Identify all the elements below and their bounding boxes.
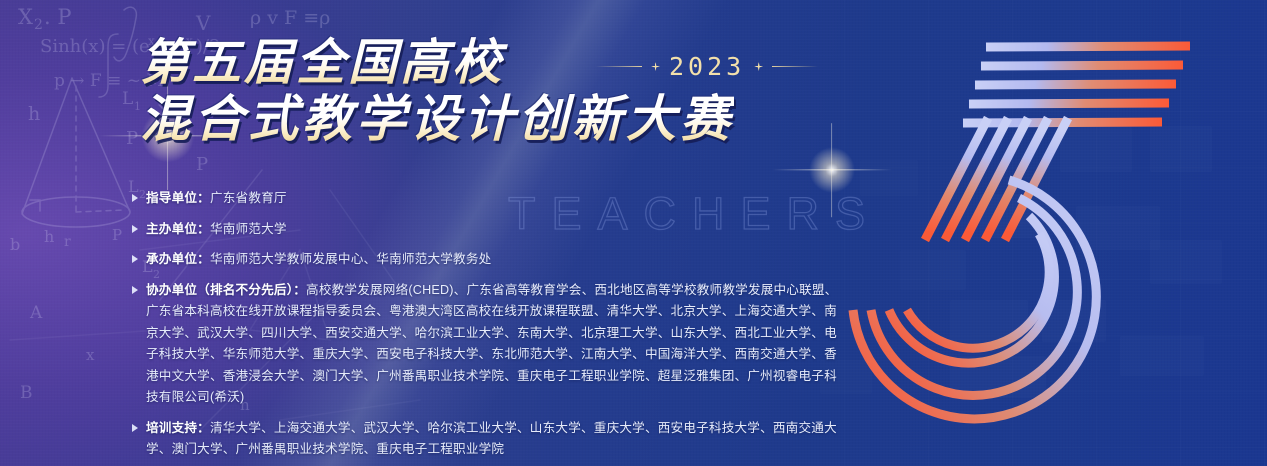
svg-text:h: h (44, 227, 54, 246)
info-row-text: 承办单位：华南师范大学教师发展中心、华南师范大学教务处 (146, 249, 491, 271)
svg-text:V: V (195, 11, 211, 35)
svg-text:B: B (20, 383, 33, 403)
svg-text:Sinh(x) = (e: Sinh(x) = (e (40, 36, 150, 57)
info-value: 广东省教育厅 (210, 191, 287, 205)
year-badge: 2023 (596, 52, 818, 81)
svg-text:ρ v F ≡ρ: ρ v F ≡ρ (250, 7, 330, 29)
info-row-text: 主办单位：华南师范大学 (146, 219, 287, 241)
info-row-co-organizers: 协办单位（排名不分先后）：高校教学发展网络(CHED)、广东省高等教育学会、西北… (132, 280, 842, 409)
info-value: 华南师范大学 (210, 222, 287, 236)
triangle-right-icon (132, 225, 138, 233)
year-label: 2023 (669, 52, 745, 81)
info-row-text: 培训支持：清华大学、上海交通大学、武汉大学、哈尔滨工业大学、山东大学、重庆大学、… (146, 418, 842, 461)
svg-text:X: X (18, 5, 33, 29)
svg-text:b: b (10, 235, 20, 254)
info-row-text: 指导单位：广东省教育厅 (146, 188, 287, 210)
info-row-host: 主办单位：华南师范大学 (132, 219, 842, 241)
year-rule-left (596, 66, 642, 67)
info-label: 协办单位（排名不分先后）： (146, 283, 306, 297)
numeral-five-graphic (838, 10, 1258, 460)
info-label: 指导单位： (146, 191, 210, 205)
svg-text:P: P (126, 128, 138, 149)
svg-text:L: L (122, 89, 133, 109)
svg-text:A: A (29, 303, 43, 323)
info-row-training-support: 培训支持：清华大学、上海交通大学、武汉大学、哈尔滨工业大学、山东大学、重庆大学、… (132, 418, 842, 461)
triangle-right-icon (132, 286, 138, 294)
svg-text:h: h (28, 103, 40, 125)
info-label: 承办单位： (146, 252, 210, 266)
svg-text:P: P (112, 226, 122, 244)
info-value: 高校教学发展网络(CHED)、广东省高等教育学会、西北地区高等学校教师教学发展中… (146, 283, 837, 405)
info-value: 华南师范大学教师发展中心、华南师范大学教务处 (210, 252, 491, 266)
svg-text:r: r (64, 234, 71, 250)
title-line-2: 混合式教学设计创新大赛 (140, 91, 734, 148)
event-banner: X 2 . P Sinh(x) = (e x - e -x )/2 p → F … (0, 0, 1267, 466)
svg-text:x: x (86, 346, 95, 364)
triangle-right-icon (132, 194, 138, 202)
info-label: 主办单位： (146, 222, 210, 236)
triangle-right-icon (132, 255, 138, 263)
svg-text:2: 2 (34, 17, 43, 33)
svg-text:. P: . P (44, 5, 71, 29)
sparkle-diamond-right-icon (754, 62, 763, 71)
info-label: 培训支持： (146, 421, 210, 435)
info-row-text: 协办单位（排名不分先后）：高校教学发展网络(CHED)、广东省高等教育学会、西北… (146, 280, 842, 409)
organizer-info-list: 指导单位：广东省教育厅 主办单位：华南师范大学 承办单位：华南师范大学教师发展中… (132, 188, 842, 466)
triangle-right-icon (132, 424, 138, 432)
info-value: 清华大学、上海交通大学、武汉大学、哈尔滨工业大学、山东大学、重庆大学、西安电子科… (146, 421, 837, 457)
year-rule-right (772, 66, 818, 67)
info-row-guidance: 指导单位：广东省教育厅 (132, 188, 842, 210)
sparkle-diamond-left-icon (651, 62, 660, 71)
svg-text:P: P (196, 154, 208, 175)
info-row-organizer: 承办单位：华南师范大学教师发展中心、华南师范大学教务处 (132, 249, 842, 271)
